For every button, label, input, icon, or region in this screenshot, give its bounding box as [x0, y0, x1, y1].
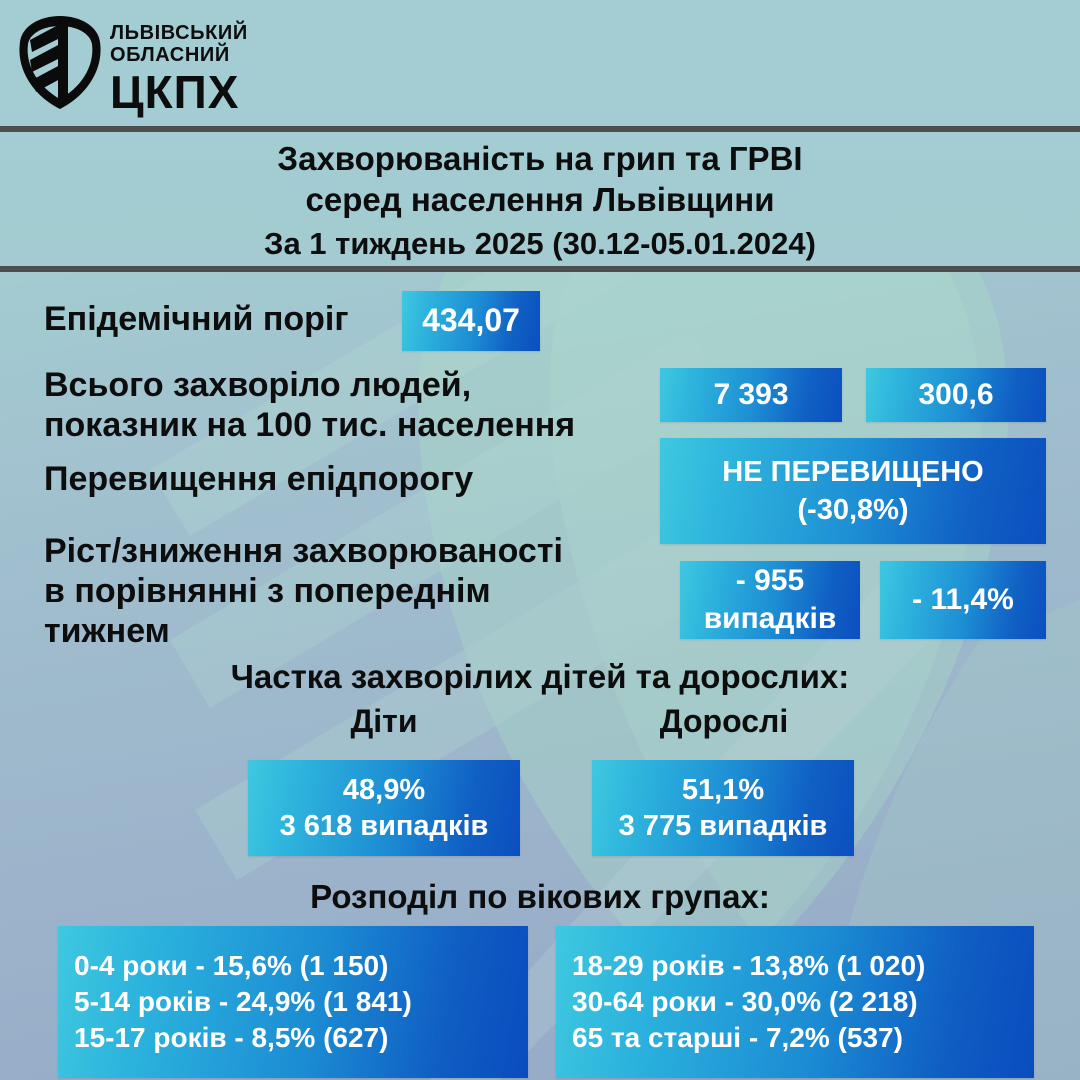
age-group-item: 15-17 років - 8,5% (627) — [74, 1020, 528, 1056]
weekly-change-cases-unit: випадків — [704, 602, 837, 636]
status-delta: (-30,8%) — [797, 494, 908, 526]
label-children: Діти — [248, 703, 520, 741]
label-weekly-change-line-2: в порівнянні з попереднім — [44, 571, 563, 611]
label-weekly-change-line-3: тижнем — [44, 611, 563, 651]
value-children-share: 48,9% 3 618 випадків — [248, 760, 520, 856]
value-adults-share: 51,1% 3 775 випадків — [592, 760, 854, 856]
brand-line-2: ОБЛАСНИЙ — [110, 44, 248, 66]
title-line-1: Захворюваність на грип та ГРВІ — [0, 138, 1080, 179]
adults-percent: 51,1% — [682, 774, 764, 806]
divider-under-title — [0, 266, 1080, 272]
label-epidemic-threshold: Епідемічний поріг — [44, 299, 349, 339]
label-total-cases-line-2: показник на 100 тис. населення — [44, 405, 575, 445]
age-group-item: 65 та старші - 7,2% (537) — [572, 1020, 1034, 1056]
value-rate-per-100k: 300,6 — [866, 368, 1046, 422]
label-total-cases-line-1: Всього захворіло людей, — [44, 365, 575, 405]
age-groups-left-panel: 0-4 роки - 15,6% (1 150) 5-14 років - 24… — [58, 926, 528, 1078]
age-group-item: 30-64 роки - 30,0% (2 218) — [572, 984, 1034, 1020]
label-weekly-change: Ріст/зниження захворюваності в порівнянн… — [44, 531, 563, 651]
age-group-item: 0-4 роки - 15,6% (1 150) — [74, 948, 528, 984]
value-weekly-change-cases: - 955 випадків — [680, 561, 860, 639]
weekly-change-cases-number: - 955 — [736, 564, 804, 598]
brand-text: ЛЬВІВСЬКИЙ ОБЛАСНИЙ ЦКПХ — [110, 22, 248, 116]
title-band: Захворюваність на грип та ГРВІ серед нас… — [0, 132, 1080, 266]
poster-header: ЛЬВІВСЬКИЙ ОБЛАСНИЙ ЦКПХ — [0, 0, 1080, 128]
label-weekly-change-line-1: Ріст/зниження захворюваності — [44, 531, 563, 571]
title-line-2: серед населення Львівщини — [0, 179, 1080, 220]
status-threshold-exceed: НЕ ПЕРЕВИЩЕНО (-30,8%) — [660, 438, 1046, 544]
age-group-item: 5-14 років - 24,9% (1 841) — [74, 984, 528, 1020]
page-title: Захворюваність на грип та ГРВІ серед нас… — [0, 138, 1080, 221]
shield-heart-logo-icon — [14, 12, 106, 112]
label-threshold-exceed: Перевищення епідпорогу — [44, 459, 473, 499]
brand-line-1: ЛЬВІВСЬКИЙ — [110, 22, 248, 44]
infographic-poster: ЛЬВІВСЬКИЙ ОБЛАСНИЙ ЦКПХ Захворюваність … — [0, 0, 1080, 1080]
children-percent: 48,9% — [343, 774, 425, 806]
age-groups-right-panel: 18-29 років - 13,8% (1 020) 30-64 роки -… — [556, 926, 1034, 1078]
age-group-item: 18-29 років - 13,8% (1 020) — [572, 948, 1034, 984]
report-period: За 1 тиждень 2025 (30.12-05.01.2024) — [0, 226, 1080, 262]
brand-acronym: ЦКПХ — [110, 69, 248, 116]
value-weekly-change-percent: - 11,4% — [880, 561, 1046, 639]
label-adults: Дорослі — [588, 703, 860, 741]
value-total-cases: 7 393 — [660, 368, 842, 422]
label-total-cases: Всього захворіло людей, показник на 100 … — [44, 365, 575, 445]
status-badge: НЕ ПЕРЕВИЩЕНО — [722, 456, 983, 488]
heading-age-groups: Розподіл по вікових групах: — [0, 878, 1080, 917]
value-epidemic-threshold: 434,07 — [402, 291, 540, 351]
children-cases: 3 618 випадків — [280, 810, 489, 842]
adults-cases: 3 775 випадків — [619, 810, 828, 842]
heading-share-children-adults: Частка захворілих дітей та дорослих: — [0, 658, 1080, 697]
